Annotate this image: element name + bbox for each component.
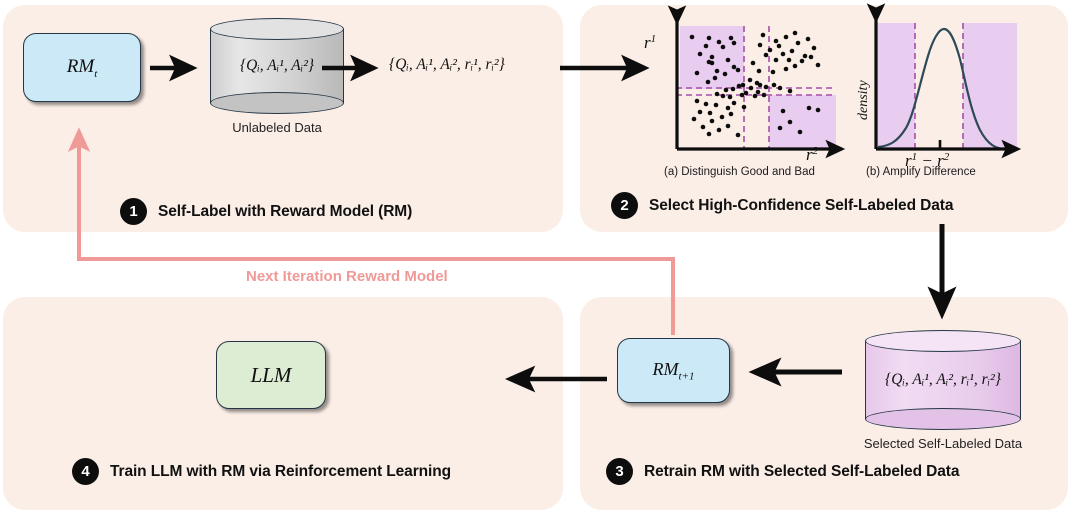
llm-box[interactable]: LLM bbox=[216, 341, 326, 409]
step-3-caption: Retrain RM with Selected Self-Labeled Da… bbox=[644, 463, 959, 481]
cylinder-bottom bbox=[210, 92, 344, 114]
cylinder-top bbox=[210, 18, 344, 40]
step-4-badge: 4 bbox=[72, 458, 99, 485]
rm-t-plus-1-label: RMt+1 bbox=[653, 359, 695, 383]
rm-t-label: RMt bbox=[67, 56, 98, 80]
cylinder-bottom bbox=[865, 408, 1021, 430]
diagram-canvas: RMt {Qᵢ, Aᵢ¹, Aᵢ²} Unlabeled Data {Qᵢ, A… bbox=[0, 0, 1080, 521]
rm-t-plus-1-box[interactable]: RMt+1 bbox=[617, 338, 730, 403]
subchart-a-caption: (a) Distinguish Good and Bad bbox=[664, 166, 815, 178]
step-1-caption: Self-Label with Reward Model (RM) bbox=[158, 203, 412, 221]
cylinder-top bbox=[865, 330, 1021, 352]
step-3-caption-group: 3 Retrain RM with Selected Self-Labeled … bbox=[606, 458, 959, 485]
step-2-caption: Select High-Confidence Self-Labeled Data bbox=[649, 197, 953, 215]
step-3-badge: 3 bbox=[606, 458, 633, 485]
step-1-badge: 1 bbox=[120, 198, 147, 225]
unlabeled-data-tuple: {Qᵢ, Aᵢ¹, Aᵢ²} bbox=[210, 57, 344, 75]
selected-data-tuple: {Qᵢ, Aᵢ¹, Aᵢ², rᵢ¹, rᵢ²} bbox=[865, 371, 1021, 389]
unlabeled-data-caption: Unlabeled Data bbox=[210, 120, 344, 135]
next-iteration-loop-label: Next Iteration Reward Model bbox=[246, 268, 448, 285]
selected-data-caption: Selected Self-Labeled Data bbox=[855, 436, 1031, 451]
step-1-caption-group: 1 Self-Label with Reward Model (RM) bbox=[120, 198, 412, 225]
subchart-b-caption: (b) Amplify Difference bbox=[866, 166, 976, 178]
step-2-badge: 2 bbox=[611, 192, 638, 219]
selected-data-cylinder[interactable]: {Qᵢ, Aᵢ¹, Aᵢ², rᵢ¹, rᵢ²} bbox=[865, 330, 1021, 430]
self-labeled-tuple: {Qᵢ, Aᵢ¹, Aᵢ², rᵢ¹, rᵢ²} bbox=[389, 56, 505, 74]
llm-label: LLM bbox=[251, 363, 292, 388]
step-4-caption-group: 4 Train LLM with RM via Reinforcement Le… bbox=[72, 458, 451, 485]
unlabeled-data-cylinder[interactable]: {Qᵢ, Aᵢ¹, Aᵢ²} bbox=[210, 18, 344, 114]
step-2-caption-group: 2 Select High-Confidence Self-Labeled Da… bbox=[611, 192, 953, 219]
step-4-caption: Train LLM with RM via Reinforcement Lear… bbox=[110, 463, 451, 481]
rm-t-box[interactable]: RMt bbox=[23, 33, 141, 102]
